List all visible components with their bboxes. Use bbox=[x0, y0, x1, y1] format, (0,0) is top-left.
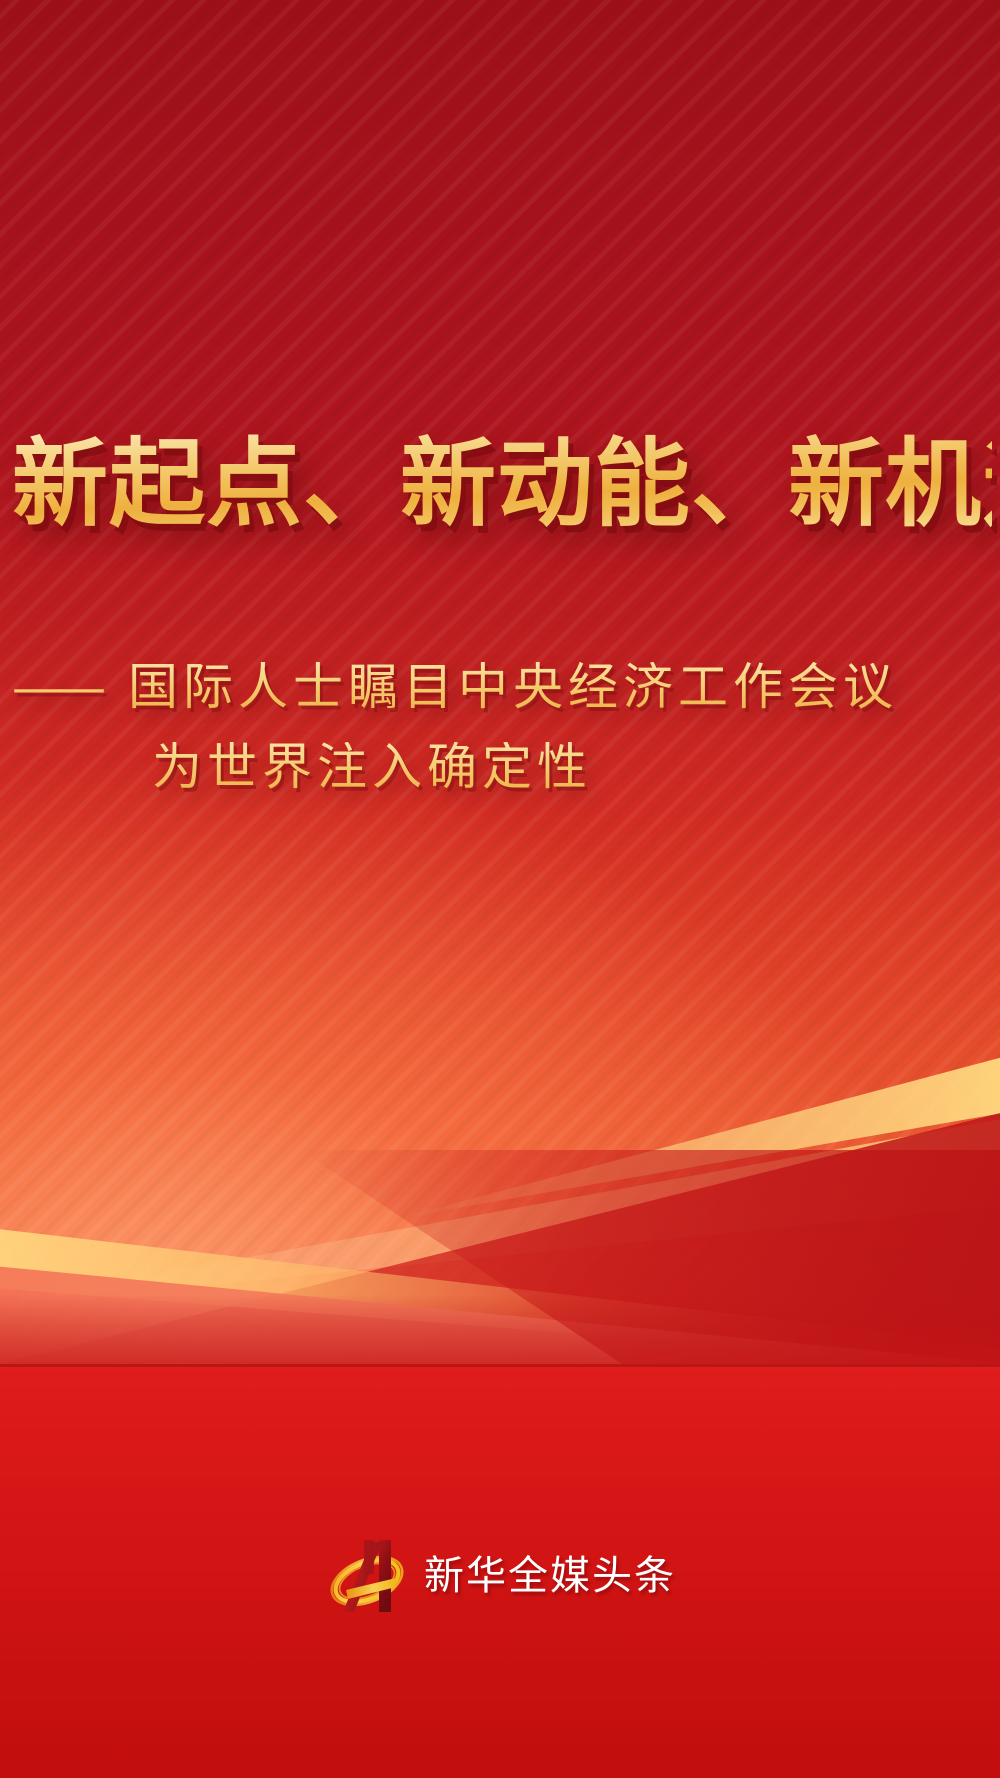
page-title: 新起点、新动能、新机遇 bbox=[12, 432, 992, 536]
light-ray-gold-streak bbox=[400, 1038, 1000, 1218]
brand-logo-lockup[interactable]: 新华全媒头条 bbox=[0, 1534, 1000, 1620]
light-ray-dark-wedge bbox=[0, 1108, 1000, 1364]
light-ray-lower-gold-wedge bbox=[0, 1218, 1000, 1364]
xinhua-a-mark-icon bbox=[324, 1534, 410, 1620]
poster-root: 新起点、新动能、新机遇 ——国际人士瞩目中央经济工作会议 为世界注入确定性 bbox=[0, 0, 1000, 1778]
light-ray-salmon-wedge bbox=[0, 1238, 1000, 1364]
subtitle-line-1: ——国际人士瞩目中央经济工作会议 bbox=[12, 662, 898, 712]
banner-bottom-fade bbox=[0, 1294, 1000, 1364]
light-ray-deep-red-mass bbox=[300, 1150, 1000, 1364]
brand-logo-text: 新华全媒头条 bbox=[424, 1556, 676, 1598]
footer-bar: 新华全媒头条 bbox=[0, 1364, 1000, 1778]
subtitle-line-2: 为世界注入确定性 bbox=[152, 742, 592, 792]
em-dash: —— bbox=[12, 658, 100, 716]
light-ray-pale-wedge bbox=[0, 1010, 1000, 1310]
footer-top-divider bbox=[0, 1364, 1000, 1367]
subtitle-line-1-text: 国际人士瞩目中央经济工作会议 bbox=[128, 658, 898, 716]
